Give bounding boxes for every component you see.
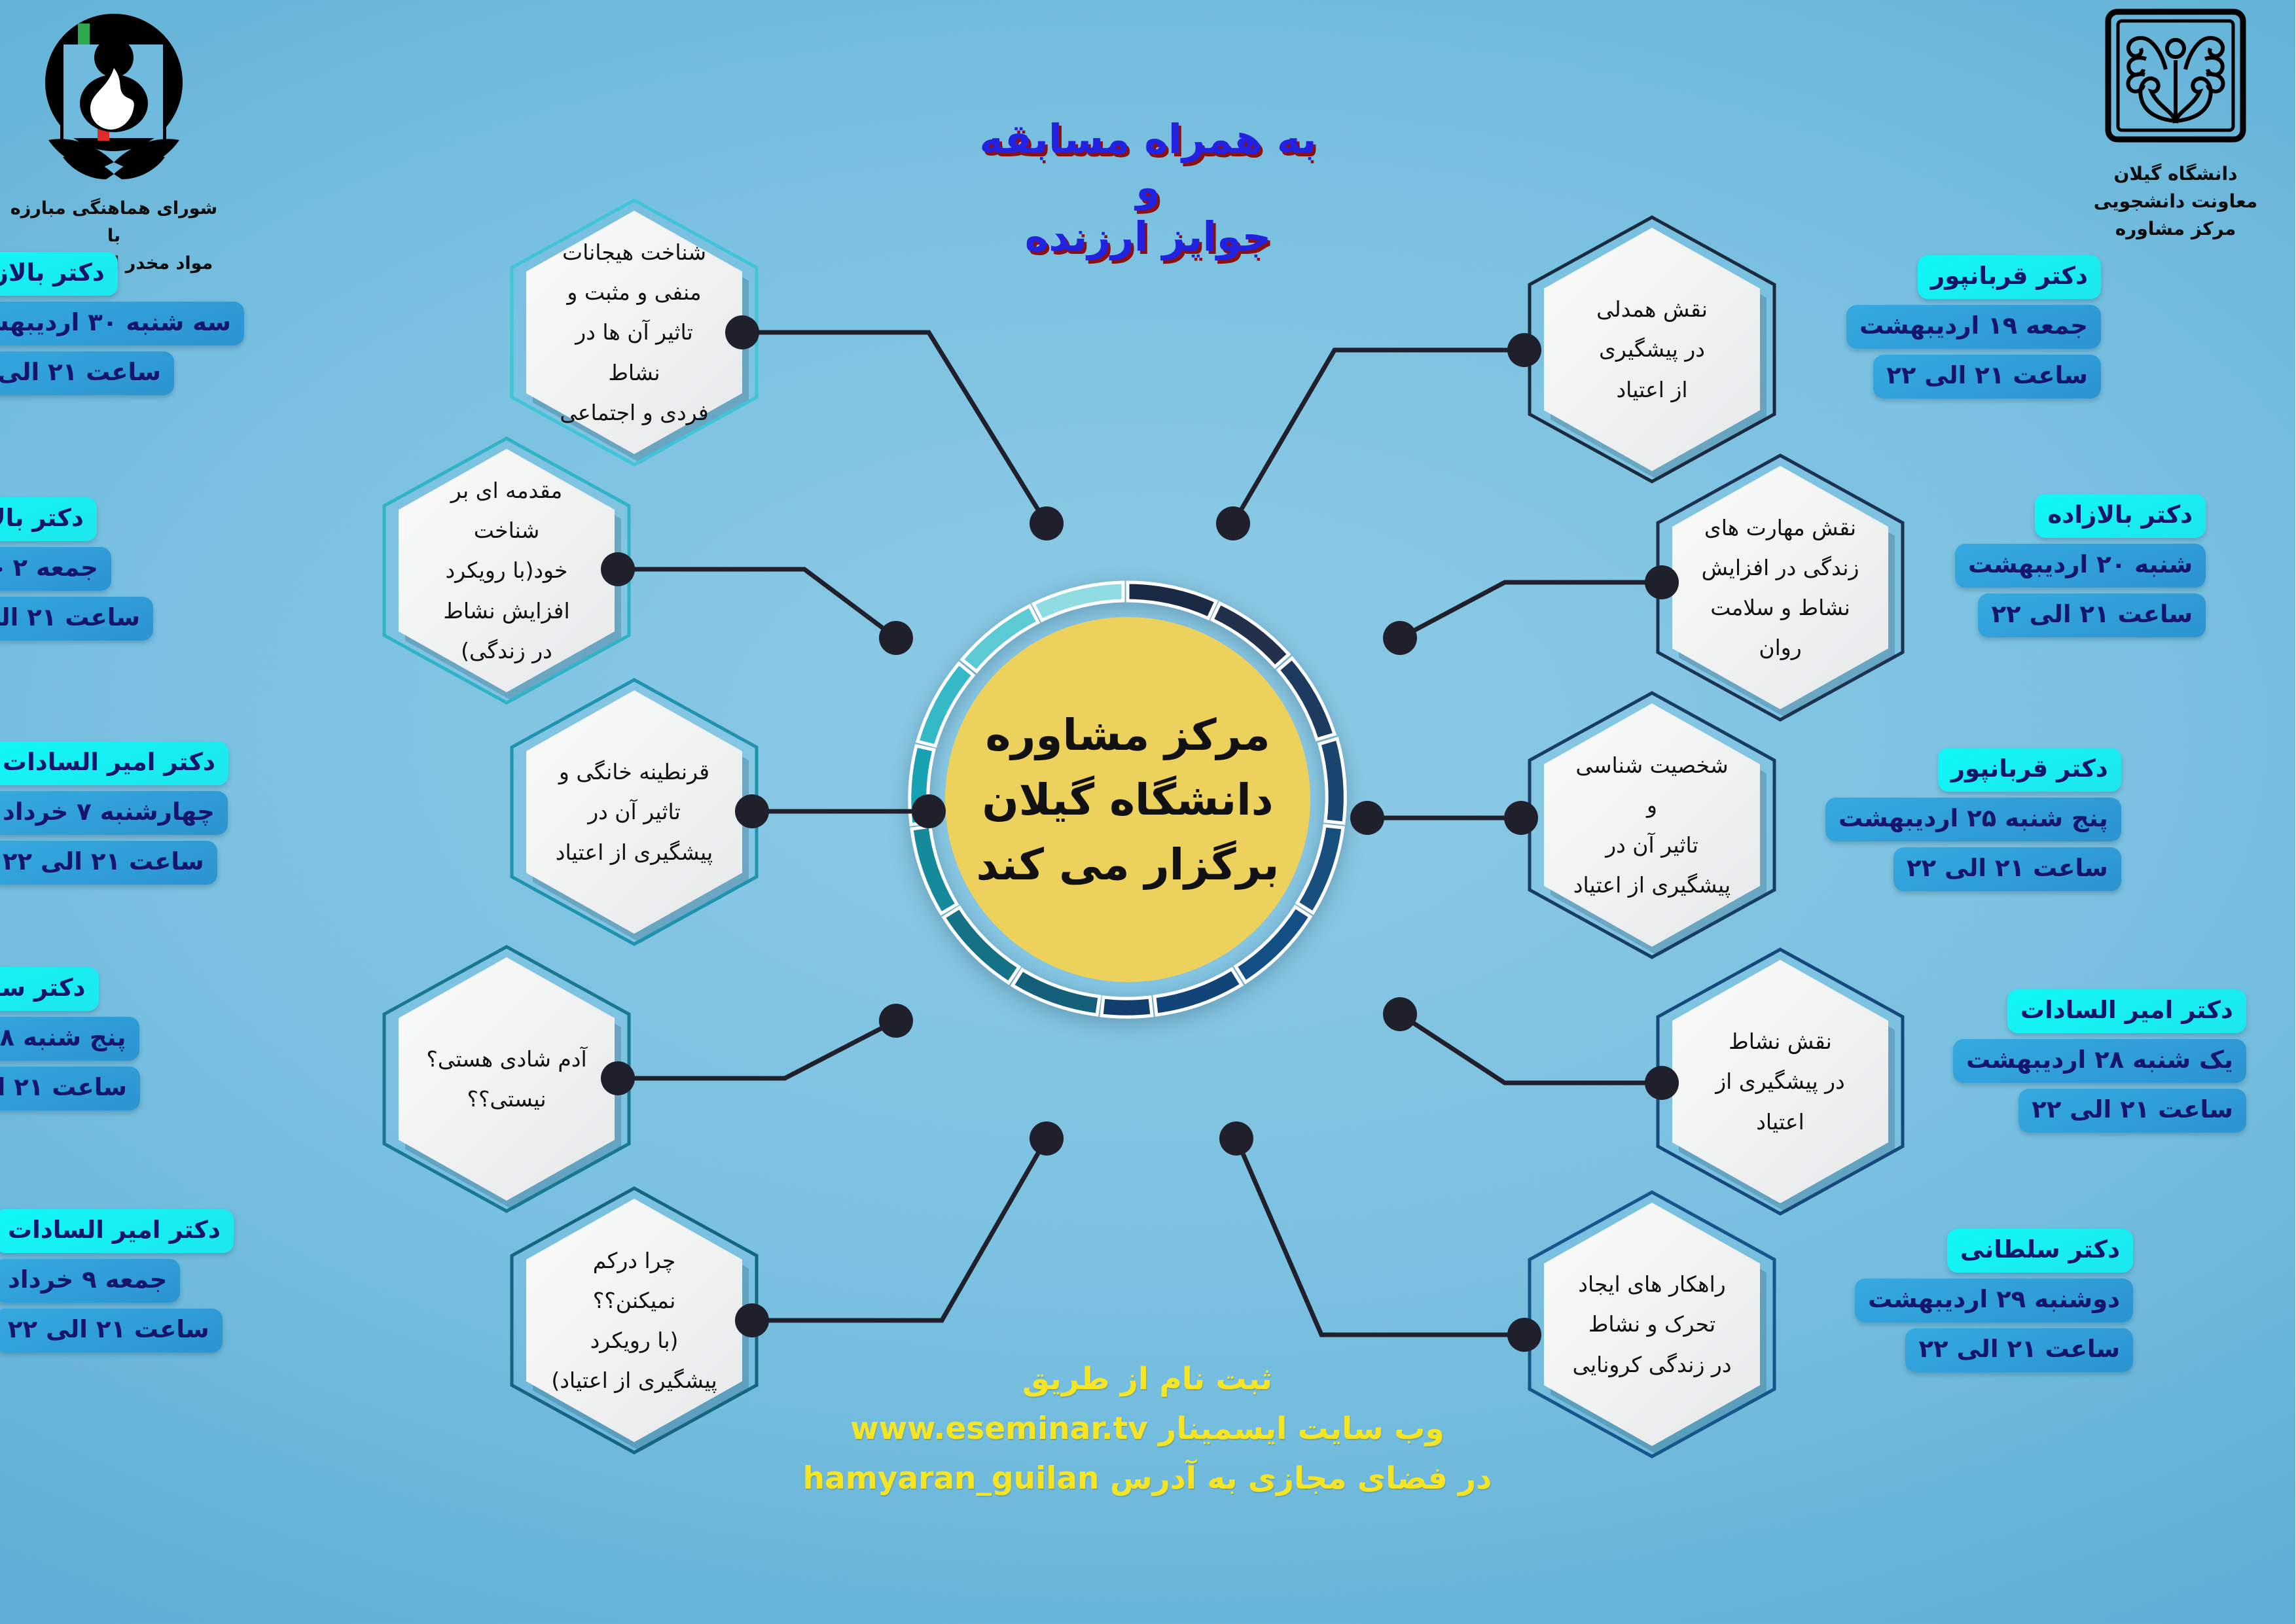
headline-line-3: جوایز ارزنده	[795, 212, 1502, 262]
topic-label: راهکار های ایجاد تحرک و نشاط در زندگی کر…	[1568, 1264, 1737, 1384]
topic-label: چرا درکم نمیکنن؟؟ (با رویکرد پیشگیری از …	[550, 1241, 719, 1400]
date-badge: پنج شنبه ۸ خرداد	[0, 1017, 140, 1061]
topic-line: افزایش نشاط	[423, 591, 592, 631]
topic-label: نقش همدلی در پیشگیری از اعتیاد	[1568, 289, 1737, 409]
topic-line: (با رویکرد	[550, 1320, 719, 1360]
topic-label: نقش نشاط در پیشگیری از اعتیاد	[1696, 1021, 1865, 1141]
topic-line: تاثیر آن ها در نشاط	[550, 312, 719, 392]
time-badge: ساعت ۲۱ الی ۲۲	[1906, 1328, 2134, 1372]
topic-line: مقدمه ای بر شناخت	[423, 470, 592, 550]
topic-label: مقدمه ای بر شناخت خود(با رویکرد افزایش ن…	[423, 470, 592, 670]
time-badge: ساعت ۲۱ الی ۲۲	[0, 1067, 141, 1110]
time-badge: ساعت ۲۱ الی ۲۲	[1874, 355, 2102, 398]
headline-line-2: و	[795, 164, 1502, 212]
topic-line: پیشگیری از اعتیاد	[550, 832, 719, 872]
presenter-badge: دکتر قربانپور	[1918, 255, 2102, 299]
left-logo-caption-line1: شورای هماهنگی مبارزه با	[7, 195, 223, 250]
poster-canvas: شورای هماهنگی مبارزه با مواد مخدر استان …	[0, 0, 2296, 1624]
topic-line: در زندگی)	[423, 631, 592, 671]
session-info-right-5: دکتر سلطانی دوشنبه ۲۹ اردیبهشت ساعت ۲۱ ا…	[1856, 1229, 2134, 1372]
topic-line: آدم شادی هستی؟	[423, 1039, 592, 1079]
presenter-badge: دکتر قربانپور	[1939, 748, 2122, 792]
topic-line: در زندگی کرونایی	[1568, 1345, 1737, 1385]
footer-social-prefix: در فضای مجازی به آدرس	[1111, 1460, 1492, 1496]
presenter-badge: دکتر بالازاده	[0, 252, 118, 296]
topic-line: پیشگیری از اعتیاد	[1568, 865, 1737, 905]
topic-hexagon-left-1[interactable]: شناخت هیجانات منفی و مثبت و تاثیر آن ها …	[527, 211, 743, 454]
session-info-right-4: دکتر امیر السادات یک شنبه ۲۸ اردیبهشت سا…	[1954, 989, 2247, 1133]
center-text-line1: مرکز مشاوره	[977, 703, 1280, 768]
topic-line: تحرک و نشاط	[1568, 1304, 1737, 1344]
session-info-left-1: دکتر بالازاده سه شنبه ۳۰ اردیبهشت ساعت ۲…	[0, 252, 245, 395]
date-badge: شنبه ۲۰ اردیبهشت	[1956, 544, 2206, 588]
topic-hexagon-right-3[interactable]: شخصیت شناسی و تاثیر آن در پیشگیری از اعت…	[1545, 703, 1761, 947]
right-logo-caption: دانشگاه گیلان معاونت دانشجویی مرکز مشاور…	[2068, 160, 2284, 243]
footer-website-prefix: وب سایت ایسمینار	[1159, 1411, 1445, 1447]
topic-hexagon-left-2[interactable]: مقدمه ای بر شناخت خود(با رویکرد افزایش ن…	[399, 449, 615, 692]
session-info-left-4: دکتر سلطانی پنج شنبه ۸ خرداد ساعت ۲۱ الی…	[0, 967, 141, 1110]
right-logo-caption-line2: معاونت دانشجویی	[2068, 188, 2284, 215]
topic-line: اعتیاد	[1696, 1102, 1865, 1142]
presenter-badge: دکتر امیر السادات	[2008, 989, 2247, 1033]
topic-hexagon-right-1[interactable]: نقش همدلی در پیشگیری از اعتیاد	[1545, 228, 1761, 471]
university-of-guilan-logo: دانشگاه گیلان معاونت دانشجویی مرکز مشاور…	[2068, 7, 2284, 243]
topic-line: نشاط و سلامت روان	[1696, 588, 1865, 667]
date-badge: دوشنبه ۲۹ اردیبهشت	[1856, 1279, 2134, 1322]
footer-line-1: ثبت نام از طریق	[624, 1354, 1672, 1404]
topic-line: در پیشگیری از	[1696, 1061, 1865, 1101]
center-circle: مرکز مشاوره دانشگاه گیلان برگزار می کند	[946, 617, 1311, 982]
presenter-badge: دکتر سلطانی	[1948, 1229, 2134, 1273]
time-badge: ساعت ۲۱ الی ۲۲	[0, 1309, 223, 1352]
torch-emblem-icon	[16, 5, 213, 188]
topic-line: در پیشگیری	[1568, 329, 1737, 369]
topic-label: نقش مهارت های زندگی در افزایش نشاط و سلا…	[1696, 508, 1865, 667]
time-badge: ساعت ۲۱ الی ۲۲	[1894, 847, 2122, 891]
topic-label: آدم شادی هستی؟ نیستی؟؟	[423, 1039, 592, 1119]
presenter-badge: دکتر امیر السادات	[0, 741, 229, 785]
footer-line-3: در فضای مجازی به آدرس hamyaran_guilan	[624, 1454, 1672, 1504]
center-text: مرکز مشاوره دانشگاه گیلان برگزار می کند	[959, 703, 1299, 897]
topic-line: نیستی؟؟	[423, 1079, 592, 1119]
topic-line: شخصیت شناسی و	[1568, 745, 1737, 825]
topic-line: شناخت هیجانات	[550, 232, 719, 272]
topic-line: خود(با رویکرد	[423, 550, 592, 590]
date-badge: چهارشنبه ۷ خرداد	[0, 791, 228, 835]
topic-hexagon-left-3[interactable]: قرنطینه خانگی و تاثیر آن در پیشگیری از ا…	[527, 690, 743, 934]
topic-label: شناخت هیجانات منفی و مثبت و تاثیر آن ها …	[550, 232, 719, 432]
topic-line: تاثیر آن در	[1568, 825, 1737, 865]
topic-line: نقش نشاط	[1696, 1021, 1865, 1061]
registration-footer: ثبت نام از طریق وب سایت ایسمینار www.ese…	[624, 1354, 1672, 1504]
center-donut: مرکز مشاوره دانشگاه گیلان برگزار می کند	[899, 571, 1357, 1029]
topic-line: نقش مهارت های	[1696, 508, 1865, 548]
footer-line-2: وب سایت ایسمینار www.eseminar.tv	[624, 1404, 1672, 1454]
topic-line: فردی و اجتماعی	[550, 393, 719, 432]
headline-line-1: به همراه مسابقه	[795, 115, 1502, 164]
poster-headline: به همراه مسابقه و جوایز ارزنده	[795, 115, 1502, 261]
session-info-left-5: دکتر امیر السادات جمعه ۹ خرداد ساعت ۲۱ ا…	[0, 1209, 234, 1352]
topic-line: از اعتیاد	[1568, 370, 1737, 410]
footer-social-handle[interactable]: hamyaran_guilan	[804, 1460, 1100, 1496]
topic-hexagon-left-4[interactable]: آدم شادی هستی؟ نیستی؟؟	[399, 957, 615, 1201]
time-badge: ساعت ۲۱ الی ۲۲	[2019, 1089, 2247, 1133]
right-logo-caption-line3: مرکز مشاوره	[2068, 215, 2284, 243]
session-info-right-3: دکتر قربانپور پنج شنبه ۲۵ اردیبهشت ساعت …	[1826, 748, 2122, 891]
date-badge: جمعه ۹ خرداد	[0, 1259, 181, 1303]
time-badge: ساعت ۲۱ الی ۲۲	[0, 841, 218, 885]
session-info-left-2: دکتر بالازاده جمعه ۲ خرداد ساعت ۲۱ الی ۲…	[0, 497, 154, 641]
topic-line: تاثیر آن در	[550, 792, 719, 832]
topic-hexagon-right-4[interactable]: نقش نشاط در پیشگیری از اعتیاد	[1673, 960, 1889, 1203]
date-badge: یک شنبه ۲۸ اردیبهشت	[1954, 1039, 2247, 1083]
guilan-university-emblem-icon	[2101, 7, 2251, 154]
topic-line: نقش همدلی	[1568, 289, 1737, 329]
session-info-left-3: دکتر امیر السادات چهارشنبه ۷ خرداد ساعت …	[0, 741, 229, 885]
topic-label: قرنطینه خانگی و تاثیر آن در پیشگیری از ا…	[550, 752, 719, 872]
topic-line: راهکار های ایجاد	[1568, 1264, 1737, 1304]
time-badge: ساعت ۲۱ الی ۲۲	[1979, 593, 2206, 637]
topic-hexagon-right-2[interactable]: نقش مهارت های زندگی در افزایش نشاط و سلا…	[1673, 466, 1889, 709]
time-badge: ساعت ۲۱ الی ۲۲	[0, 597, 154, 641]
session-info-right-1: دکتر قربانپور جمعه ۱۹ اردیبهشت ساعت ۲۱ ا…	[1847, 255, 2102, 398]
topic-line: پیشگیری از اعتیاد)	[550, 1360, 719, 1400]
footer-website-url[interactable]: www.eseminar.tv	[851, 1411, 1149, 1447]
date-badge: جمعه ۱۹ اردیبهشت	[1847, 305, 2102, 349]
topic-line: چرا درکم نمیکنن؟؟	[550, 1241, 719, 1320]
topic-line: منفی و مثبت و	[550, 272, 719, 312]
date-badge: جمعه ۲ خرداد	[0, 547, 112, 591]
topic-label: شخصیت شناسی و تاثیر آن در پیشگیری از اعت…	[1568, 745, 1737, 905]
right-logo-caption-line1: دانشگاه گیلان	[2068, 160, 2284, 188]
session-info-right-2: دکتر بالازاده شنبه ۲۰ اردیبهشت ساعت ۲۱ ا…	[1956, 494, 2206, 637]
topic-line: زندگی در افزایش	[1696, 548, 1865, 588]
presenter-badge: دکتر بالازاده	[0, 497, 98, 541]
date-badge: سه شنبه ۳۰ اردیبهشت	[0, 302, 245, 345]
date-badge: پنج شنبه ۲۵ اردیبهشت	[1826, 798, 2122, 841]
anti-narcotics-council-logo: شورای هماهنگی مبارزه با مواد مخدر استان …	[7, 5, 223, 277]
center-text-line2: دانشگاه گیلان	[977, 768, 1280, 832]
center-text-line3: برگزار می کند	[977, 832, 1280, 897]
presenter-badge: دکتر بالازاده	[2036, 494, 2207, 538]
time-badge: ساعت ۲۱ الی ۲۲	[0, 351, 175, 395]
presenter-badge: دکتر امیر السادات	[0, 1209, 234, 1253]
topic-line: قرنطینه خانگی و	[550, 752, 719, 792]
presenter-badge: دکتر سلطانی	[0, 967, 99, 1011]
